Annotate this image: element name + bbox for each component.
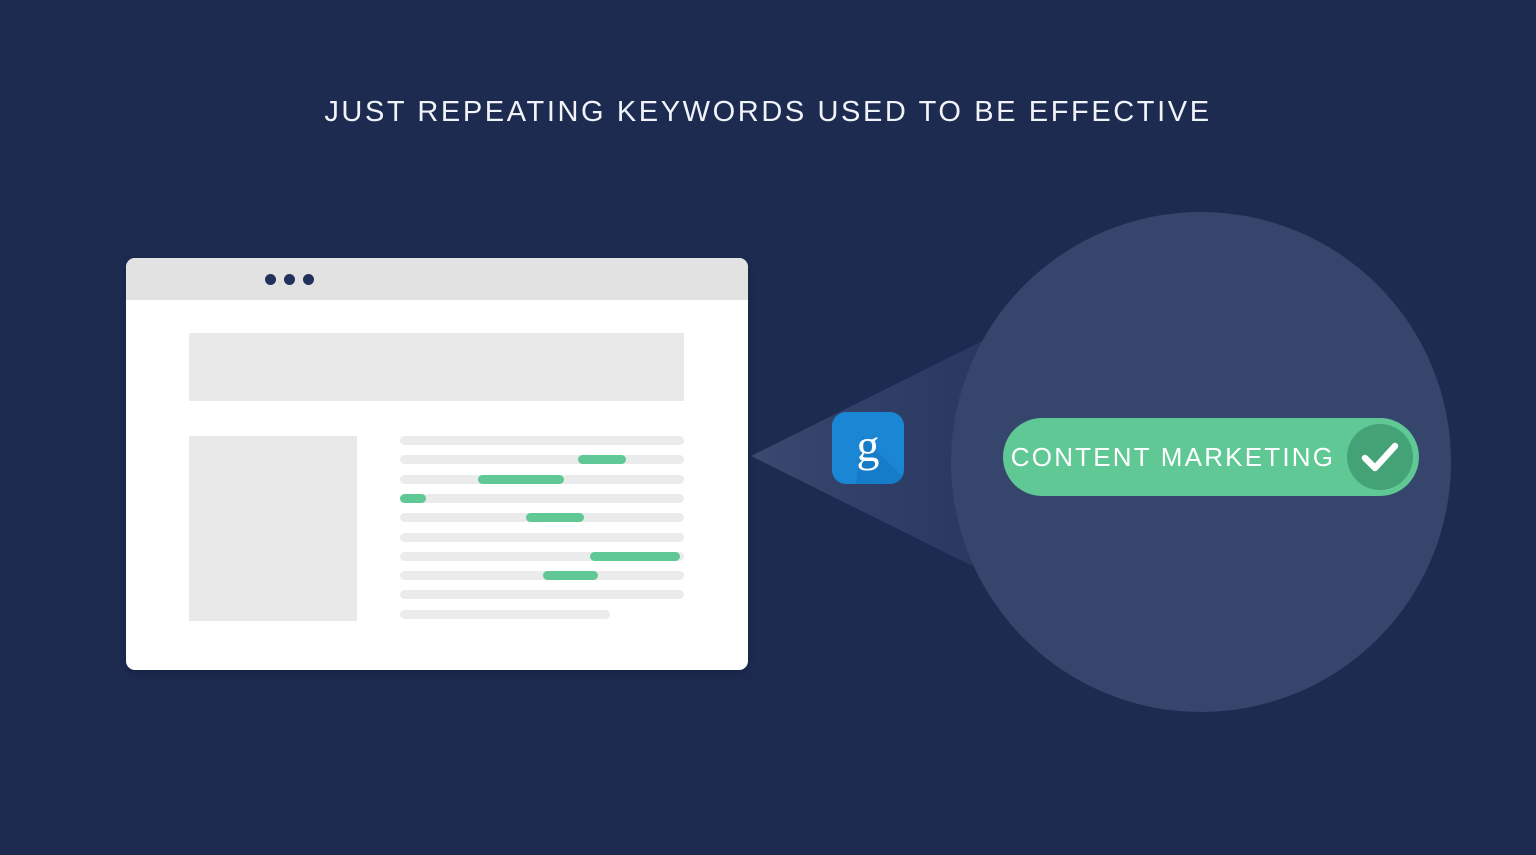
article-text-line — [400, 533, 684, 542]
keyword-highlight — [543, 571, 598, 580]
window-minimize-dot-icon[interactable] — [284, 274, 295, 285]
article-text-line — [400, 455, 684, 464]
browser-titlebar — [126, 258, 748, 300]
g-icon-glyph: g — [832, 412, 904, 484]
article-text-lines — [400, 436, 684, 624]
page-title: JUST REPEATING KEYWORDS USED TO BE EFFEC… — [0, 96, 1536, 129]
keyword-highlight — [478, 475, 564, 484]
content-marketing-label: CONTENT MARKETING — [1003, 418, 1343, 496]
keyword-highlight — [590, 552, 680, 561]
keyword-highlight — [578, 455, 626, 464]
check-circle-icon — [1347, 424, 1413, 490]
browser-window — [126, 258, 748, 670]
article-text-line — [400, 494, 684, 503]
article-text-line — [400, 571, 684, 580]
google-g-icon[interactable]: g — [832, 412, 904, 484]
window-close-dot-icon[interactable] — [265, 274, 276, 285]
keyword-highlight — [400, 494, 426, 503]
article-image-placeholder — [189, 436, 357, 621]
keyword-highlight — [526, 513, 584, 522]
article-text-line — [400, 436, 684, 445]
window-maximize-dot-icon[interactable] — [303, 274, 314, 285]
article-text-line — [400, 590, 684, 599]
article-text-line — [400, 610, 610, 619]
infographic-canvas: JUST REPEATING KEYWORDS USED TO BE EFFEC… — [0, 0, 1536, 855]
header-banner-placeholder — [189, 333, 684, 401]
